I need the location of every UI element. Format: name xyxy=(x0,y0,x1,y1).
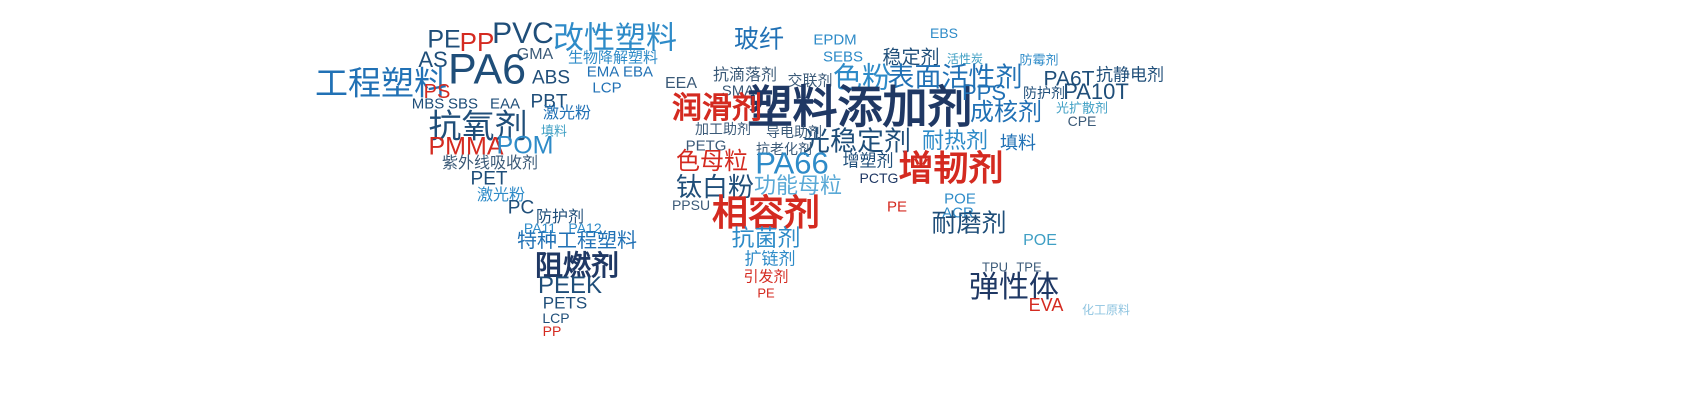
word-cloud-term[interactable]: 防霉剂 xyxy=(1019,54,1058,67)
word-cloud-term[interactable]: PPSU xyxy=(672,198,710,212)
word-cloud-term[interactable]: LCP xyxy=(592,81,621,96)
word-cloud-term[interactable]: 塑料添加剂 xyxy=(747,85,972,130)
word-cloud-term[interactable]: 填料 xyxy=(1000,134,1036,152)
word-cloud-term[interactable]: 扩链剂 xyxy=(745,251,796,268)
word-cloud-term[interactable]: PE xyxy=(757,287,774,300)
word-cloud-term[interactable]: EBA xyxy=(623,65,653,80)
word-cloud-term[interactable]: EMA xyxy=(587,65,620,80)
word-cloud-term[interactable]: PET xyxy=(471,170,508,189)
word-cloud-term[interactable]: 抗菌剂 xyxy=(732,227,801,250)
word-cloud-term[interactable]: 增韧剂 xyxy=(898,152,1003,187)
word-cloud-canvas: PEPPPVCGMA改性塑料玻纤EPDMEBSASPA6ABS生物降解塑料EMA… xyxy=(0,0,1707,400)
word-cloud-term[interactable]: PVC xyxy=(492,19,554,49)
word-cloud-term[interactable]: 特种工程塑料 xyxy=(517,231,637,251)
word-cloud-term[interactable]: PE xyxy=(887,200,907,215)
word-cloud-term[interactable]: 玻纤 xyxy=(734,28,784,53)
word-cloud-term[interactable]: PCTG xyxy=(860,171,899,185)
word-cloud-term[interactable]: 成核剂 xyxy=(970,101,1042,125)
word-cloud-term[interactable]: 引发剂 xyxy=(743,270,788,285)
word-cloud-term[interactable]: PETS xyxy=(543,295,587,312)
word-cloud-term[interactable]: EVA xyxy=(1029,296,1064,314)
word-cloud-term[interactable]: 增塑剂 xyxy=(843,153,894,170)
word-cloud-term[interactable]: 色母粒 xyxy=(676,150,748,174)
word-cloud-term[interactable]: 耐磨剂 xyxy=(931,212,1006,237)
word-cloud-term[interactable]: 防护剂 xyxy=(1023,86,1065,100)
word-cloud-term[interactable]: PA6 xyxy=(448,49,526,92)
word-cloud-term[interactable]: ABS xyxy=(532,69,570,88)
word-cloud-term[interactable]: 润滑剂 xyxy=(672,94,762,124)
word-cloud-term[interactable]: 激光粉 xyxy=(543,106,591,122)
word-cloud-term[interactable]: PP xyxy=(543,324,562,338)
word-cloud-term[interactable]: POE xyxy=(1023,233,1057,249)
word-cloud-term[interactable]: 加工助剂 xyxy=(695,122,751,136)
word-cloud-term[interactable]: PC xyxy=(508,199,534,218)
word-cloud-term[interactable]: EBS xyxy=(930,26,958,40)
word-cloud-term[interactable]: EEA xyxy=(665,76,697,92)
word-cloud-term[interactable]: EPDM xyxy=(813,33,856,48)
word-cloud-term[interactable]: CPE xyxy=(1068,114,1097,128)
word-cloud-term[interactable]: 化工原料 xyxy=(1082,304,1130,316)
